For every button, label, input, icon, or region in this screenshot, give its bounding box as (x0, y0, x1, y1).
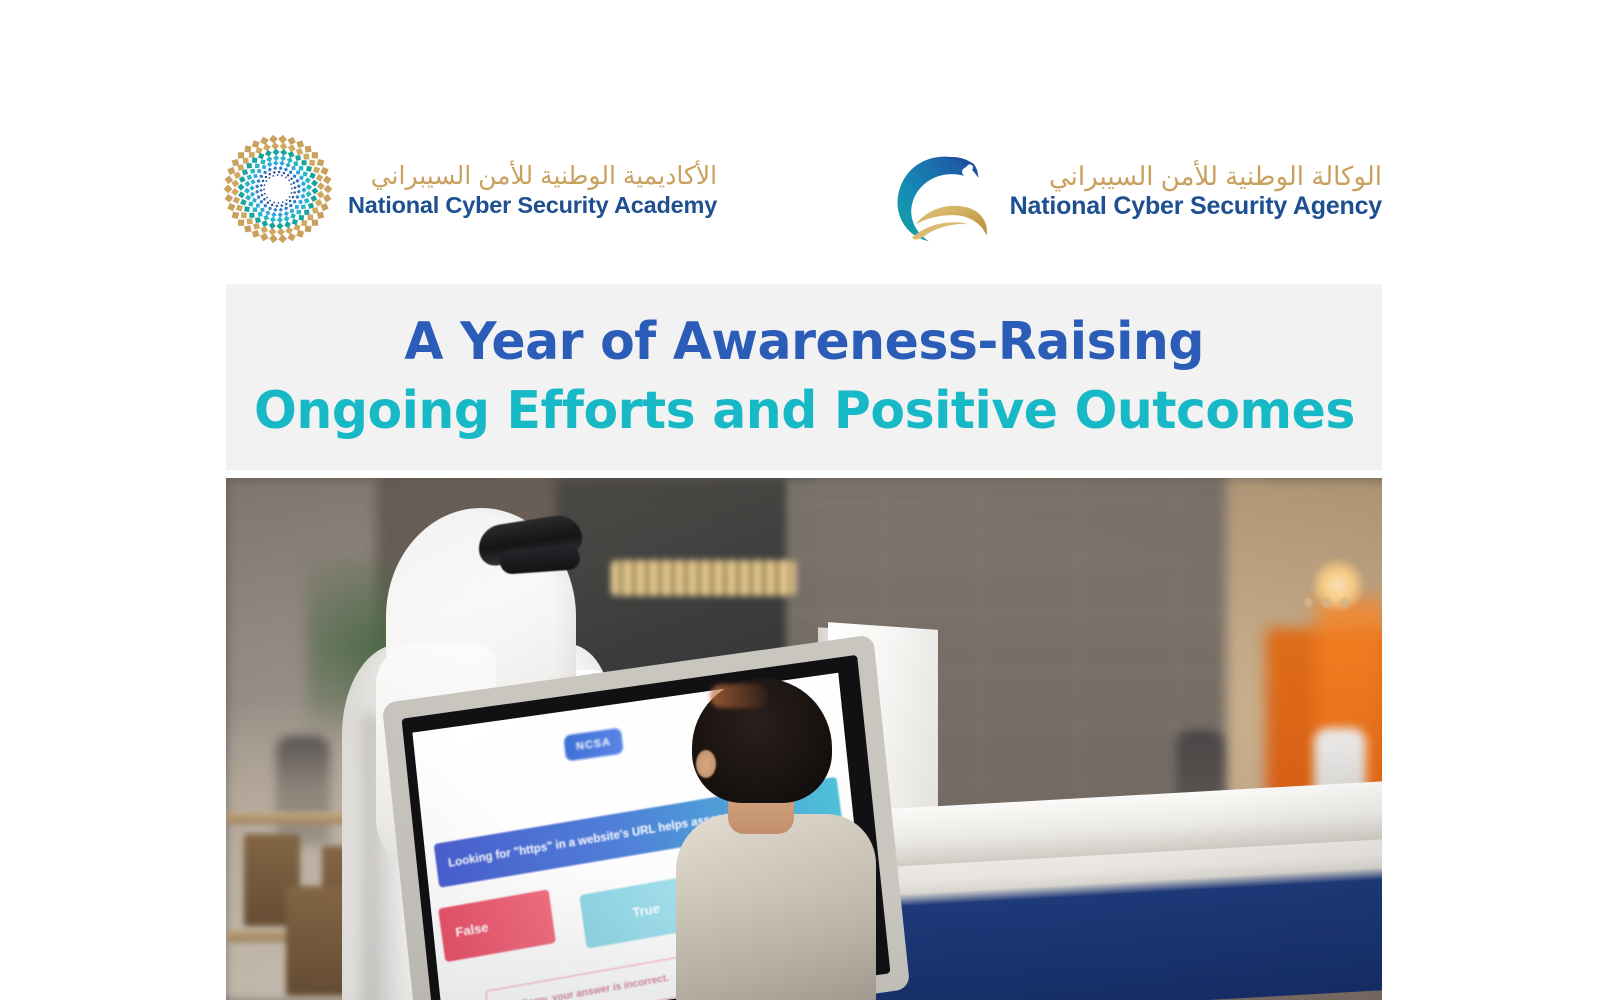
kiosk-feedback-text: Sorry, your answer is incorrect. (486, 954, 704, 1000)
academy-english-name: National Cyber Security Academy (348, 194, 717, 218)
boy-at-kiosk (676, 678, 876, 1000)
kiosk-feedback-note: Sorry, your answer is incorrect. (485, 953, 706, 1000)
agal-cord-lower (499, 545, 580, 575)
kiosk-answer-false-label: False (438, 889, 556, 962)
kiosk-screen-logo-label: NCSA (563, 728, 623, 762)
agency-arabic-name: الوكالة الوطنية للأمن السيبراني (1010, 163, 1382, 189)
logo-national-cyber-security-academy: الأكاديمية الوطنية للأمن السيبراني Natio… (222, 133, 717, 250)
boy-ear (696, 750, 716, 778)
title-panel: A Year of Awareness-Raising Ongoing Effo… (226, 284, 1382, 470)
kiosk-screen-logo: NCSA (563, 728, 623, 762)
logo-national-cyber-security-agency: الوكالة الوطنية للأمن السيبراني National… (884, 133, 1382, 250)
academy-arabic-name: الأكاديمية الوطنية للأمن السيبراني (348, 164, 717, 189)
academy-mandala-icon (222, 133, 334, 250)
agency-falcon-icon (884, 133, 996, 250)
logo-row: الأكاديمية الوطنية للأمن السيبراني Natio… (222, 132, 1382, 250)
poster-page: الأكاديمية الوطنية للأمن السيبراني Natio… (0, 0, 1600, 1000)
academy-logo-text: الأكاديمية الوطنية للأمن السيبراني Natio… (348, 164, 717, 218)
page-title-primary: A Year of Awareness-Raising (404, 315, 1204, 370)
agency-logo-text: الوكالة الوطنية للأمن السيبراني National… (1010, 163, 1382, 219)
agency-english-name: National Cyber Security Agency (1010, 194, 1382, 219)
background-light-dots (1304, 598, 1349, 607)
boy-hair-highlight (710, 684, 768, 708)
hero-photo-scene: NCSA Looking for "https" in a website's … (226, 478, 1382, 1000)
kiosk-answer-false-button[interactable]: False (438, 889, 556, 962)
hero-photo: NCSA Looking for "https" in a website's … (226, 478, 1382, 1000)
boy-shirt (676, 814, 876, 1000)
page-title-secondary: Ongoing Efforts and Positive Outcomes (254, 384, 1355, 439)
